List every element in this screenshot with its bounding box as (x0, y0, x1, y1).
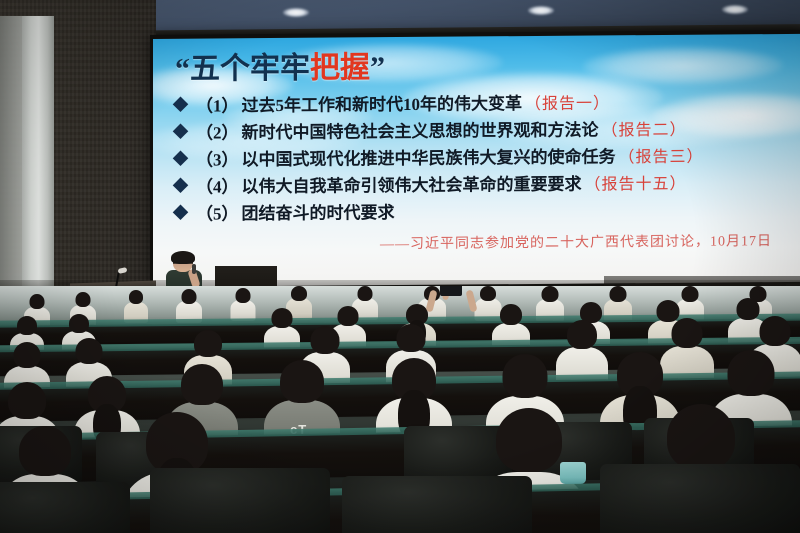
person-head (17, 316, 37, 335)
person-head (496, 408, 562, 472)
handheld-microphone-icon (192, 264, 196, 274)
person-head (672, 318, 703, 348)
person-head (397, 324, 426, 352)
diamond-bullet-icon (173, 177, 189, 193)
cup-icon (560, 462, 586, 484)
diamond-bullet-icon (173, 150, 189, 166)
bullet-text: 过去5年工作和新时代10年的伟大变革 (242, 90, 523, 119)
person-head (291, 286, 307, 301)
ceiling-light-icon (528, 6, 554, 15)
person-head (181, 364, 223, 405)
person-head (610, 286, 627, 302)
lecture-hall-scene: “五个牢牢把握” （1） 过去5年工作和新时代10年的伟大变革 （报告一） （2… (0, 0, 800, 533)
person-head (280, 360, 324, 403)
person-head (76, 338, 103, 364)
phone-icon (440, 286, 462, 296)
person-head (194, 330, 222, 357)
person-head (76, 292, 91, 307)
person-head (129, 290, 143, 304)
person-head (69, 314, 89, 333)
slide-title-highlight: 把握 (310, 51, 370, 84)
person-head (728, 350, 775, 396)
person-head (14, 342, 41, 368)
audience-area: cT (0, 286, 800, 533)
bullet-text: 以中国式现代化推进中华民族伟大复兴的使命任务 (242, 143, 616, 173)
audience-member (124, 290, 148, 320)
seat (0, 482, 130, 533)
slide-title: “五个牢牢把握” (175, 48, 792, 87)
audience-member (230, 288, 255, 318)
person-head (358, 286, 373, 301)
presenter-hair (171, 251, 195, 264)
person-head (182, 289, 197, 304)
bullet-number: （3） (196, 146, 239, 173)
diamond-bullet-icon (173, 123, 189, 139)
person-head (567, 320, 597, 349)
person-head (480, 286, 496, 301)
slide-title-main: 五个牢牢 (190, 52, 310, 86)
open-quote: “ (175, 53, 190, 86)
slide-content: “五个牢牢把握” （1） 过去5年工作和新时代10年的伟大变革 （报告一） （2… (153, 34, 800, 287)
audience-member (176, 289, 202, 320)
person-head (272, 308, 293, 328)
person-head (30, 294, 45, 309)
slide-bullet-list: （1） 过去5年工作和新时代10年的伟大变革 （报告一） （2） 新时代中国特色… (175, 88, 792, 228)
bullet-number: （5） (196, 200, 239, 227)
ceiling-light-icon (722, 5, 748, 14)
person-head (500, 304, 522, 325)
person-head (338, 306, 359, 326)
bullet-item: （5） 团结奋斗的时代要求 (175, 196, 792, 228)
bullet-text: 以伟大自我革命引领伟大社会革命的重要要求 (242, 171, 582, 201)
person-head (235, 288, 250, 303)
bullet-number: （1） (196, 92, 239, 119)
projection-screen-frame: “五个牢牢把握” （1） 过去5年工作和新时代10年的伟大变革 （报告一） （2… (150, 30, 800, 289)
bullet-note: （报告十五） (585, 171, 687, 199)
bullet-number: （4） (196, 173, 239, 200)
bullet-text: 团结奋斗的时代要求 (242, 199, 395, 227)
bullet-note: （报告三） (619, 144, 704, 172)
projection-screen: “五个牢牢把握” （1） 过去5年工作和新时代10年的伟大变革 （报告一） （2… (153, 34, 800, 287)
seat (342, 476, 532, 533)
seat (600, 464, 800, 533)
person-head (542, 286, 559, 302)
ceiling-light-icon (283, 8, 309, 17)
bullet-text: 新时代中国特色社会主义思想的世界观和方法论 (242, 116, 599, 146)
bullet-note: （报告二） (602, 117, 687, 145)
bullet-item: （3） 以中国式现代化推进中华民族伟大复兴的使命任务 （报告三） (175, 142, 792, 174)
diamond-bullet-icon (173, 204, 189, 220)
person-head (19, 426, 71, 476)
person-head (667, 404, 735, 470)
audience-member (536, 286, 564, 319)
bullet-note: （报告一） (525, 90, 610, 118)
close-quote: ” (370, 51, 385, 84)
diamond-bullet-icon (173, 96, 189, 112)
person-head (8, 382, 46, 419)
bullet-number: （2） (196, 119, 239, 146)
person-head (760, 316, 791, 346)
person-head (503, 354, 548, 398)
person-head (311, 326, 340, 354)
seat (150, 468, 330, 533)
slide-attribution: ——习近平同志参加党的二十大广西代表团讨论，10月17日 (175, 230, 792, 255)
